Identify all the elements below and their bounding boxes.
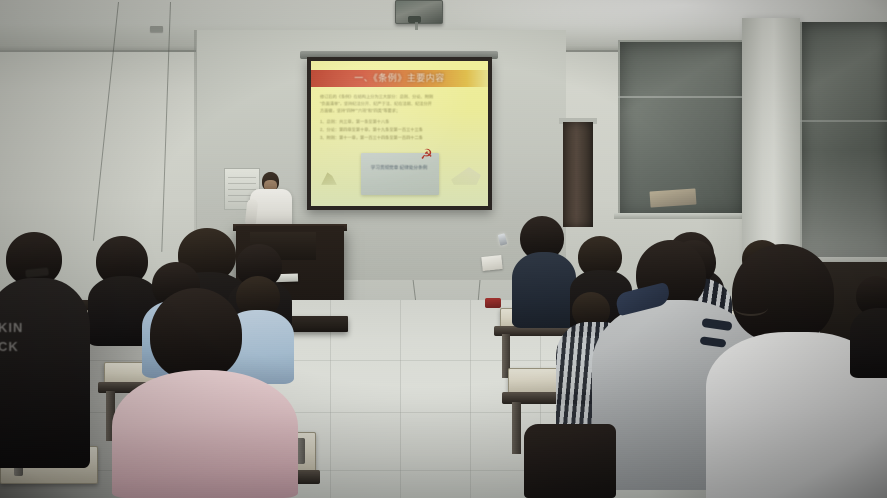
jacket-graphic-text: KIN CK — [0, 318, 58, 392]
bench-leg — [512, 402, 521, 454]
window-light-wash — [800, 150, 887, 258]
slide-decoration-right — [451, 167, 481, 185]
slide-body-line: 1、总则：共三章，第一条至第十八条 — [320, 119, 480, 125]
slide-body-line: 3、附则：第十一章，第一百三十四条至第一百四十二条 — [320, 135, 480, 141]
backpack — [524, 424, 616, 498]
window-sill — [614, 213, 748, 219]
necklace — [734, 300, 768, 316]
door[interactable] — [563, 122, 593, 227]
slide-image-caption: 学习贯彻党章 纪律处分条例 — [369, 165, 429, 171]
slide-body-line: 2、分论：第四章至第十章，第十九条至第一百三十三条 — [320, 127, 480, 133]
object-behind-glass — [649, 188, 696, 207]
classroom-photo: 一、《条例》主要内容 修订后的《条例》在结构上分为三大部分：总则、分论、附则 "… — [0, 0, 887, 498]
slide-decoration-left — [321, 171, 337, 185]
window-mullion — [800, 120, 887, 122]
ceiling-vent — [150, 26, 163, 32]
red-bag — [485, 298, 501, 308]
open-book — [481, 255, 502, 271]
party-emblem-icon: ☭ — [419, 147, 434, 162]
slide-title: 一、《条例》主要内容 — [311, 71, 488, 86]
slide-body-line: "负面清单"，坚持纪法分开、纪严于法、纪在法前、纪法分开 — [320, 101, 480, 107]
slide-body-line: 修订后的《条例》在结构上分为三大部分：总则、分论、附则 — [320, 94, 480, 100]
slide-body-line: 方面做，坚持"四种""六项"和"四类"等要求； — [320, 108, 480, 114]
window-mullion — [618, 96, 742, 98]
projection-screen: 一、《条例》主要内容 修订后的《条例》在结构上分为三大部分：总则、分论、附则 "… — [311, 61, 488, 206]
